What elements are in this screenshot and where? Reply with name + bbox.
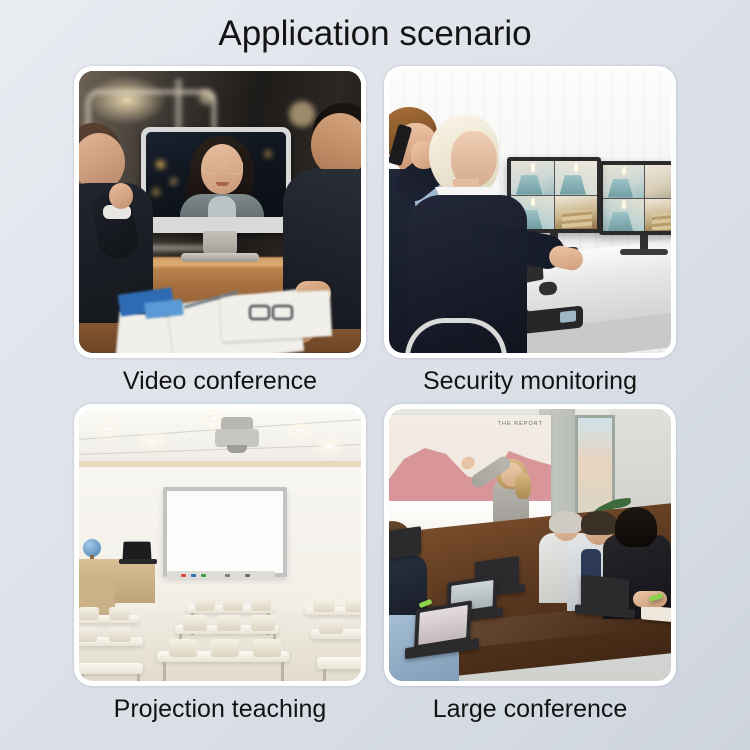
eyeglasses-icon (203, 160, 243, 172)
monitor-device (141, 127, 291, 233)
photo-frame: THE REPORT (384, 404, 676, 686)
scenario-card-large-conference[interactable]: THE REPORT (384, 404, 676, 686)
caption-security-monitoring: Security monitoring (344, 366, 716, 396)
scenario-card-projection-teaching[interactable]: Projection teaching (74, 404, 366, 686)
scenario-grid: Video conference (0, 66, 750, 750)
interactive-whiteboard (163, 487, 287, 577)
photo-large-conference: THE REPORT (389, 409, 671, 681)
page-title: Application scenario (0, 13, 750, 55)
photo-frame (74, 66, 366, 358)
photo-frame (74, 404, 366, 686)
application-scenario-page: Application scenario (0, 0, 750, 750)
photo-frame (384, 66, 676, 358)
cctv-monitor (599, 161, 671, 235)
marker-tray (167, 571, 275, 580)
monitor-screen (146, 132, 286, 217)
scenario-card-video-conference[interactable]: Video conference (74, 66, 366, 358)
photo-projection-teaching (79, 409, 361, 681)
scenario-card-security-monitoring[interactable]: Security monitoring (384, 66, 676, 358)
photo-video-conference (79, 71, 361, 353)
caption-large-conference: Large conference (344, 694, 716, 724)
photo-security-monitoring (389, 71, 671, 353)
projection-title: THE REPORT (498, 421, 543, 427)
